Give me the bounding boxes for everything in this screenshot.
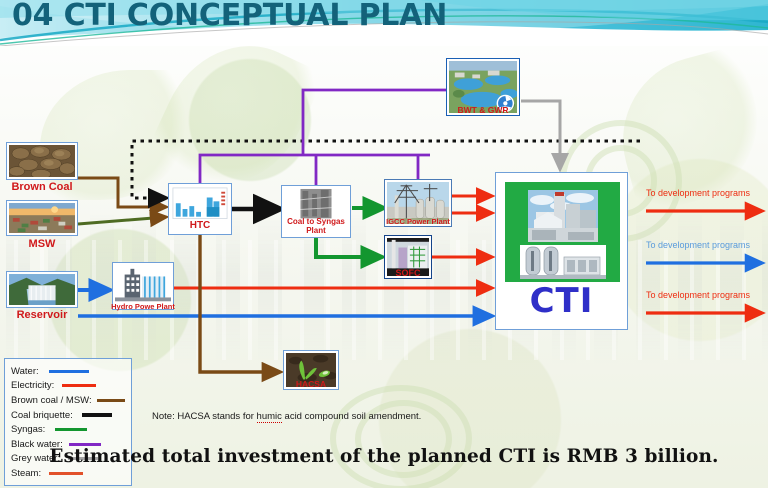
legend-item: Syngas:	[11, 422, 127, 437]
legend-label: Electricity:	[11, 380, 54, 391]
note-prefix: Note: HACSA stands for	[152, 411, 257, 422]
background-leaf	[144, 20, 325, 211]
node-brown-coal[interactable]: Brown Coal	[6, 142, 78, 194]
legend-swatch-water	[49, 370, 89, 373]
note-underlined: humic	[257, 411, 282, 423]
node-label: Hydro Powe Plant	[108, 303, 178, 311]
output-label-2: To development programs	[646, 240, 750, 250]
legend-swatch-steam	[49, 472, 83, 475]
legend-swatch-coal-briquette	[82, 413, 112, 417]
node-cti[interactable]: CTI	[495, 172, 628, 330]
node-label: Coal to Syngas Plant	[280, 218, 352, 235]
brown-coal-image	[9, 145, 75, 177]
cti-equipment-image	[520, 245, 606, 279]
node-hacsa[interactable]: HACSA	[283, 350, 339, 390]
cti-plant-image	[528, 190, 598, 242]
node-label: Reservoir	[6, 310, 78, 322]
legend-item: Steam:	[11, 466, 127, 481]
msw-thumbnail	[6, 200, 78, 236]
node-sofc[interactable]: SOFC	[384, 235, 432, 279]
node-bwt-gwr[interactable]: BWT & GWR	[446, 58, 520, 116]
legend-swatch-syngas	[55, 428, 87, 431]
legend-label: Brown coal / MSW:	[11, 395, 92, 406]
legend-label: Coal briquette:	[11, 410, 73, 421]
legend-swatch-electricity	[62, 384, 96, 387]
node-hydro-power-plant[interactable]: Hydro Powe Plant	[112, 262, 174, 310]
node-label: MSW	[6, 239, 78, 251]
node-htc[interactable]: HTC	[168, 183, 232, 235]
legend-label: Steam:	[11, 468, 41, 479]
node-label: SOFC	[384, 269, 432, 278]
reservoir-image	[9, 274, 75, 305]
footer-statement: Estimated total investment of the planne…	[0, 446, 768, 467]
node-msw[interactable]: MSW	[6, 200, 78, 252]
node-label: HTC	[168, 221, 232, 232]
legend-swatch-brown-coal	[97, 399, 125, 402]
note-text: Note: HACSA stands for humic acid compou…	[152, 411, 421, 422]
note-suffix: acid compound soil amendment.	[282, 411, 421, 422]
node-label: BWT & GWR	[446, 106, 520, 115]
legend-item: Coal briquette:	[11, 408, 127, 423]
output-label-1: To development programs	[646, 188, 750, 198]
node-label: IGCC Power Plant	[382, 218, 454, 226]
node-label: HACSA	[283, 380, 339, 389]
node-igcc-power-plant[interactable]: IGCC Power Plant	[384, 179, 452, 227]
legend-item: Water:	[11, 364, 127, 379]
node-label: Brown Coal	[6, 182, 78, 194]
reservoir-thumbnail	[6, 271, 78, 308]
msw-image	[9, 203, 75, 233]
hydro-image	[115, 265, 171, 307]
node-reservoir[interactable]: Reservoir	[6, 271, 78, 323]
legend-label: Water:	[11, 366, 39, 377]
legend-item: Brown coal / MSW:	[11, 393, 127, 408]
cti-label: CTI	[496, 281, 627, 321]
page-title: 04 CTI CONCEPTUAL PLAN	[12, 0, 447, 33]
brown-coal-thumbnail	[6, 142, 78, 180]
legend-item: Electricity:	[11, 379, 127, 394]
legend-label: Syngas:	[11, 424, 45, 435]
header-banner: 04 CTI CONCEPTUAL PLAN	[0, 0, 768, 46]
output-label-3: To development programs	[646, 290, 750, 300]
slide-canvas: 04 CTI CONCEPTUAL PLAN	[0, 0, 768, 488]
node-coal-to-syngas[interactable]: Coal to Syngas Plant	[281, 185, 351, 238]
